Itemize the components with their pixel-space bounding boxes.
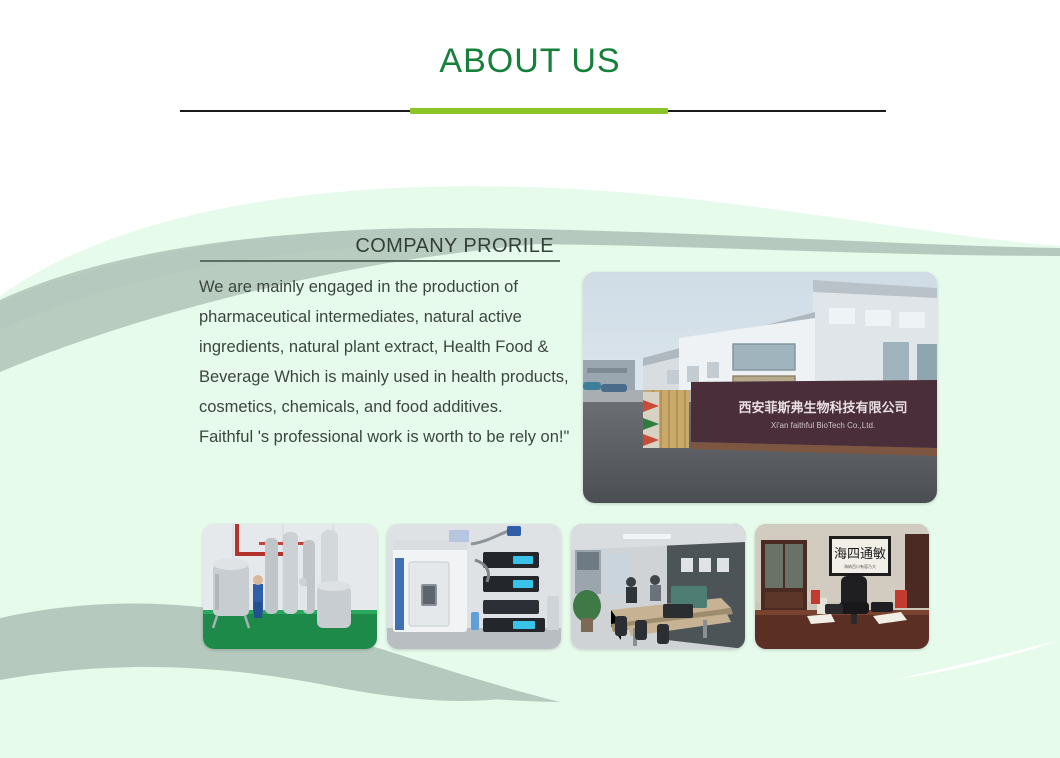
facility-thumbnail-row: 海四通敏 海纳百川有容乃大 — [203, 524, 938, 649]
company-profile-heading: COMPANY PRORILE — [200, 232, 560, 262]
profile-paragraph-1: We are mainly engaged in the production … — [199, 272, 571, 422]
profile-paragraph-2: Faithful 's professional work is worth t… — [199, 422, 571, 452]
svg-text:海四通敏: 海四通敏 — [834, 547, 886, 562]
managers-office-thumb: 海四通敏 海纳百川有容乃大 — [755, 524, 929, 649]
page-header: ABOUT US — [0, 0, 1060, 140]
company-profile-title: COMPANY PRORILE — [355, 235, 554, 258]
svg-text:Xi'an faithful BioTech Co.,Ltd: Xi'an faithful BioTech Co.,Ltd. — [771, 421, 875, 430]
heading-underline — [200, 260, 560, 262]
page-title: ABOUT US — [0, 42, 1060, 81]
svg-text:海纳百川有容乃大: 海纳百川有容乃大 — [844, 563, 876, 569]
svg-text:西安菲斯弗生物科技有限公司: 西安菲斯弗生物科技有限公司 — [738, 400, 907, 416]
divider-highlight — [410, 108, 668, 114]
laboratory-equipment-thumb — [387, 524, 561, 649]
about-us-page: ABOUT US COMPANY PRORILE We are mainly e… — [0, 0, 1060, 758]
open-office-thumb — [571, 524, 745, 649]
factory-exterior-photo: 西安菲斯弗生物科技有限公司 Xi'an faithful BioTech Co.… — [583, 272, 937, 503]
company-profile-text: We are mainly engaged in the production … — [199, 272, 571, 452]
title-divider — [180, 106, 886, 116]
production-workshop-thumb — [203, 524, 377, 649]
